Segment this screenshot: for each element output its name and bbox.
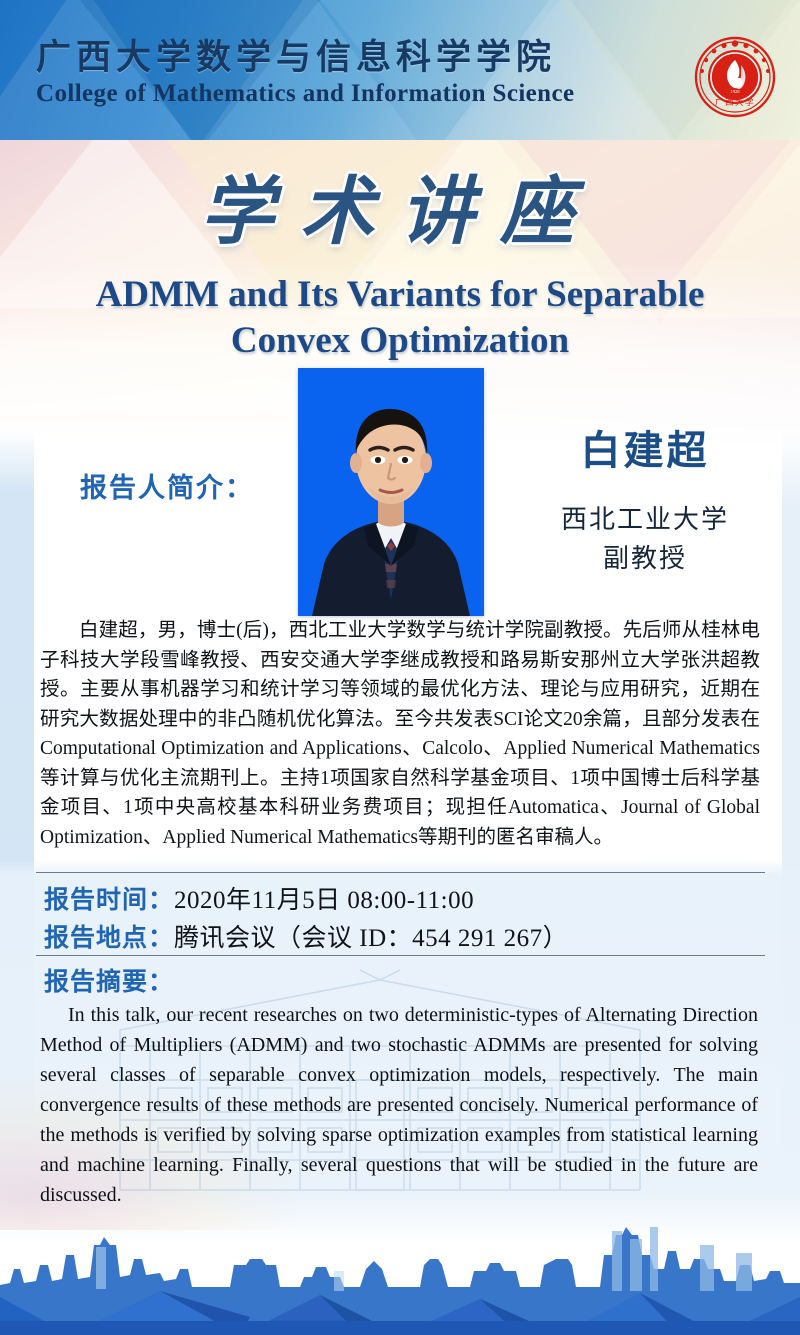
abstract-label: 报告摘要：: [44, 962, 174, 998]
speaker-affiliation-group: 西北工业大学 副教授: [500, 500, 790, 578]
divider-above-abstract: [36, 955, 765, 956]
school-name-cn: 广西大学数学与信息科学学院: [36, 38, 574, 78]
divider-above-time: [36, 872, 765, 873]
speaker-name: 白建超: [500, 418, 790, 476]
talk-time-row: 报告时间：2020年11月5日 08:00-11:00: [44, 880, 474, 916]
talk-time-label: 报告时间：: [44, 886, 174, 914]
university-seal-icon: 广西大学 1928: [694, 36, 776, 118]
school-name-en: College of Mathematics and Information S…: [36, 80, 574, 108]
poster-header: 广西大学数学与信息科学学院 College of Mathematics and…: [0, 0, 800, 140]
header-title-group: 广西大学数学与信息科学学院 College of Mathematics and…: [36, 38, 574, 108]
speaker-affiliation: 西北工业大学: [500, 500, 790, 539]
city-skyline-icon: [0, 1225, 800, 1335]
speaker-intro-label: 报告人简介：: [80, 466, 254, 505]
talk-title: ADMM and Its Variants for Separable Conv…: [40, 272, 760, 365]
lecture-poster: 广西大学数学与信息科学学院 College of Mathematics and…: [0, 0, 800, 1335]
svg-text:1928: 1928: [730, 89, 740, 94]
speaker-rank: 副教授: [500, 539, 790, 578]
svg-text:广西大学: 广西大学: [715, 97, 755, 107]
speaker-bio-paragraph: 白建超，男，博士(后)，西北工业大学数学与统计学院副教授。先后师从桂林电子科技大…: [40, 616, 760, 852]
talk-place-label: 报告地点：: [44, 924, 174, 952]
abstract-paragraph: In this talk, our recent researches on t…: [40, 1000, 758, 1210]
talk-time-value: 2020年11月5日 08:00-11:00: [174, 887, 474, 914]
talk-place-value: 腾讯会议（会议 ID：454 291 267）: [174, 925, 568, 952]
speaker-portrait-photo: [298, 368, 484, 616]
calligraphy-title: 学术讲座: [0, 152, 800, 259]
calligraphy-title-text: 学术讲座: [200, 172, 600, 254]
talk-place-row: 报告地点：腾讯会议（会议 ID：454 291 267）: [44, 918, 568, 954]
